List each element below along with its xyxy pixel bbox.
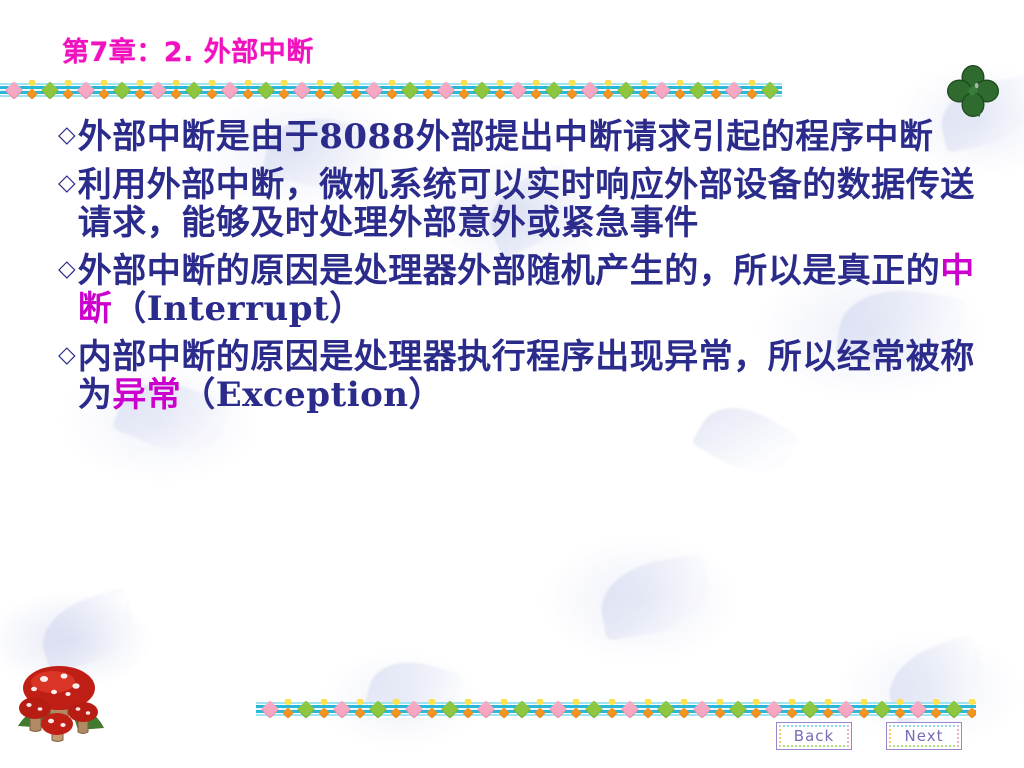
four-leaf-clover-icon (944, 62, 1002, 120)
bullet-text: 利用外部中断，微机系统可以实时响应外部设备的数据传送请求，能够及时处理外部意外或… (78, 166, 988, 242)
bullet-text: 外部中断是由于8088外部提出中断请求引起的程序中断 (78, 118, 988, 156)
bullet-text-segment: 利用外部中断，微机系统可以实时响应外部设备的数据传送请求，能够及时处理外部意外或… (78, 165, 975, 243)
decorative-band-bottom (256, 699, 976, 721)
bullet-text-segment: 外部提出中断请求引起的程序中断 (416, 117, 934, 157)
bullet-text-segment: （Exception） (181, 375, 443, 415)
bullet-item: ◇利用外部中断，微机系统可以实时响应外部设备的数据传送请求，能够及时处理外部意外… (58, 166, 988, 242)
bullet-text-segment: 外部中断的原因是处理器外部随机产生的，所以是真正的 (78, 251, 941, 291)
bullet-text-segment: （Interrupt） (112, 289, 364, 329)
red-mushrooms-icon (8, 648, 124, 746)
bullet-diamond-icon: ◇ (58, 166, 76, 202)
bullet-text: 外部中断的原因是处理器外部随机产生的，所以是真正的中断（Interrupt） (78, 252, 988, 328)
decorative-band-top (0, 80, 782, 102)
bullet-text-segment: 8088 (319, 117, 416, 157)
next-button-label: Next (905, 727, 944, 745)
bullet-list: ◇外部中断是由于8088外部提出中断请求引起的程序中断◇利用外部中断，微机系统可… (58, 118, 988, 425)
slide-canvas: 第7章：2. 外部中断 ◇外部中断是由于8088外部提出中断请求引起的程序中断◇… (0, 0, 1024, 768)
bullet-item: ◇外部中断是由于8088外部提出中断请求引起的程序中断 (58, 118, 988, 156)
bullet-diamond-icon: ◇ (58, 338, 76, 374)
bullet-text-segment: 外部中断是由于 (78, 117, 320, 157)
bullet-text-segment: 异常 (112, 375, 181, 415)
band-gems (256, 699, 976, 721)
bullet-item: ◇外部中断的原因是处理器外部随机产生的，所以是真正的中断（Interrupt） (58, 252, 988, 328)
slide-title: 第7章：2. 外部中断 (62, 30, 314, 69)
background-watermark (595, 553, 715, 641)
bullet-diamond-icon: ◇ (58, 118, 76, 154)
band-gems (0, 80, 782, 102)
back-button[interactable]: Back (776, 722, 852, 750)
next-button[interactable]: Next (886, 722, 962, 750)
bullet-text: 内部中断的原因是处理器执行程序出现异常，所以经常被称为异常（Exception） (78, 338, 988, 414)
bullet-diamond-icon: ◇ (58, 252, 76, 288)
back-button-label: Back (794, 727, 834, 745)
bullet-item: ◇内部中断的原因是处理器执行程序出现异常，所以经常被称为异常（Exception… (58, 338, 988, 414)
